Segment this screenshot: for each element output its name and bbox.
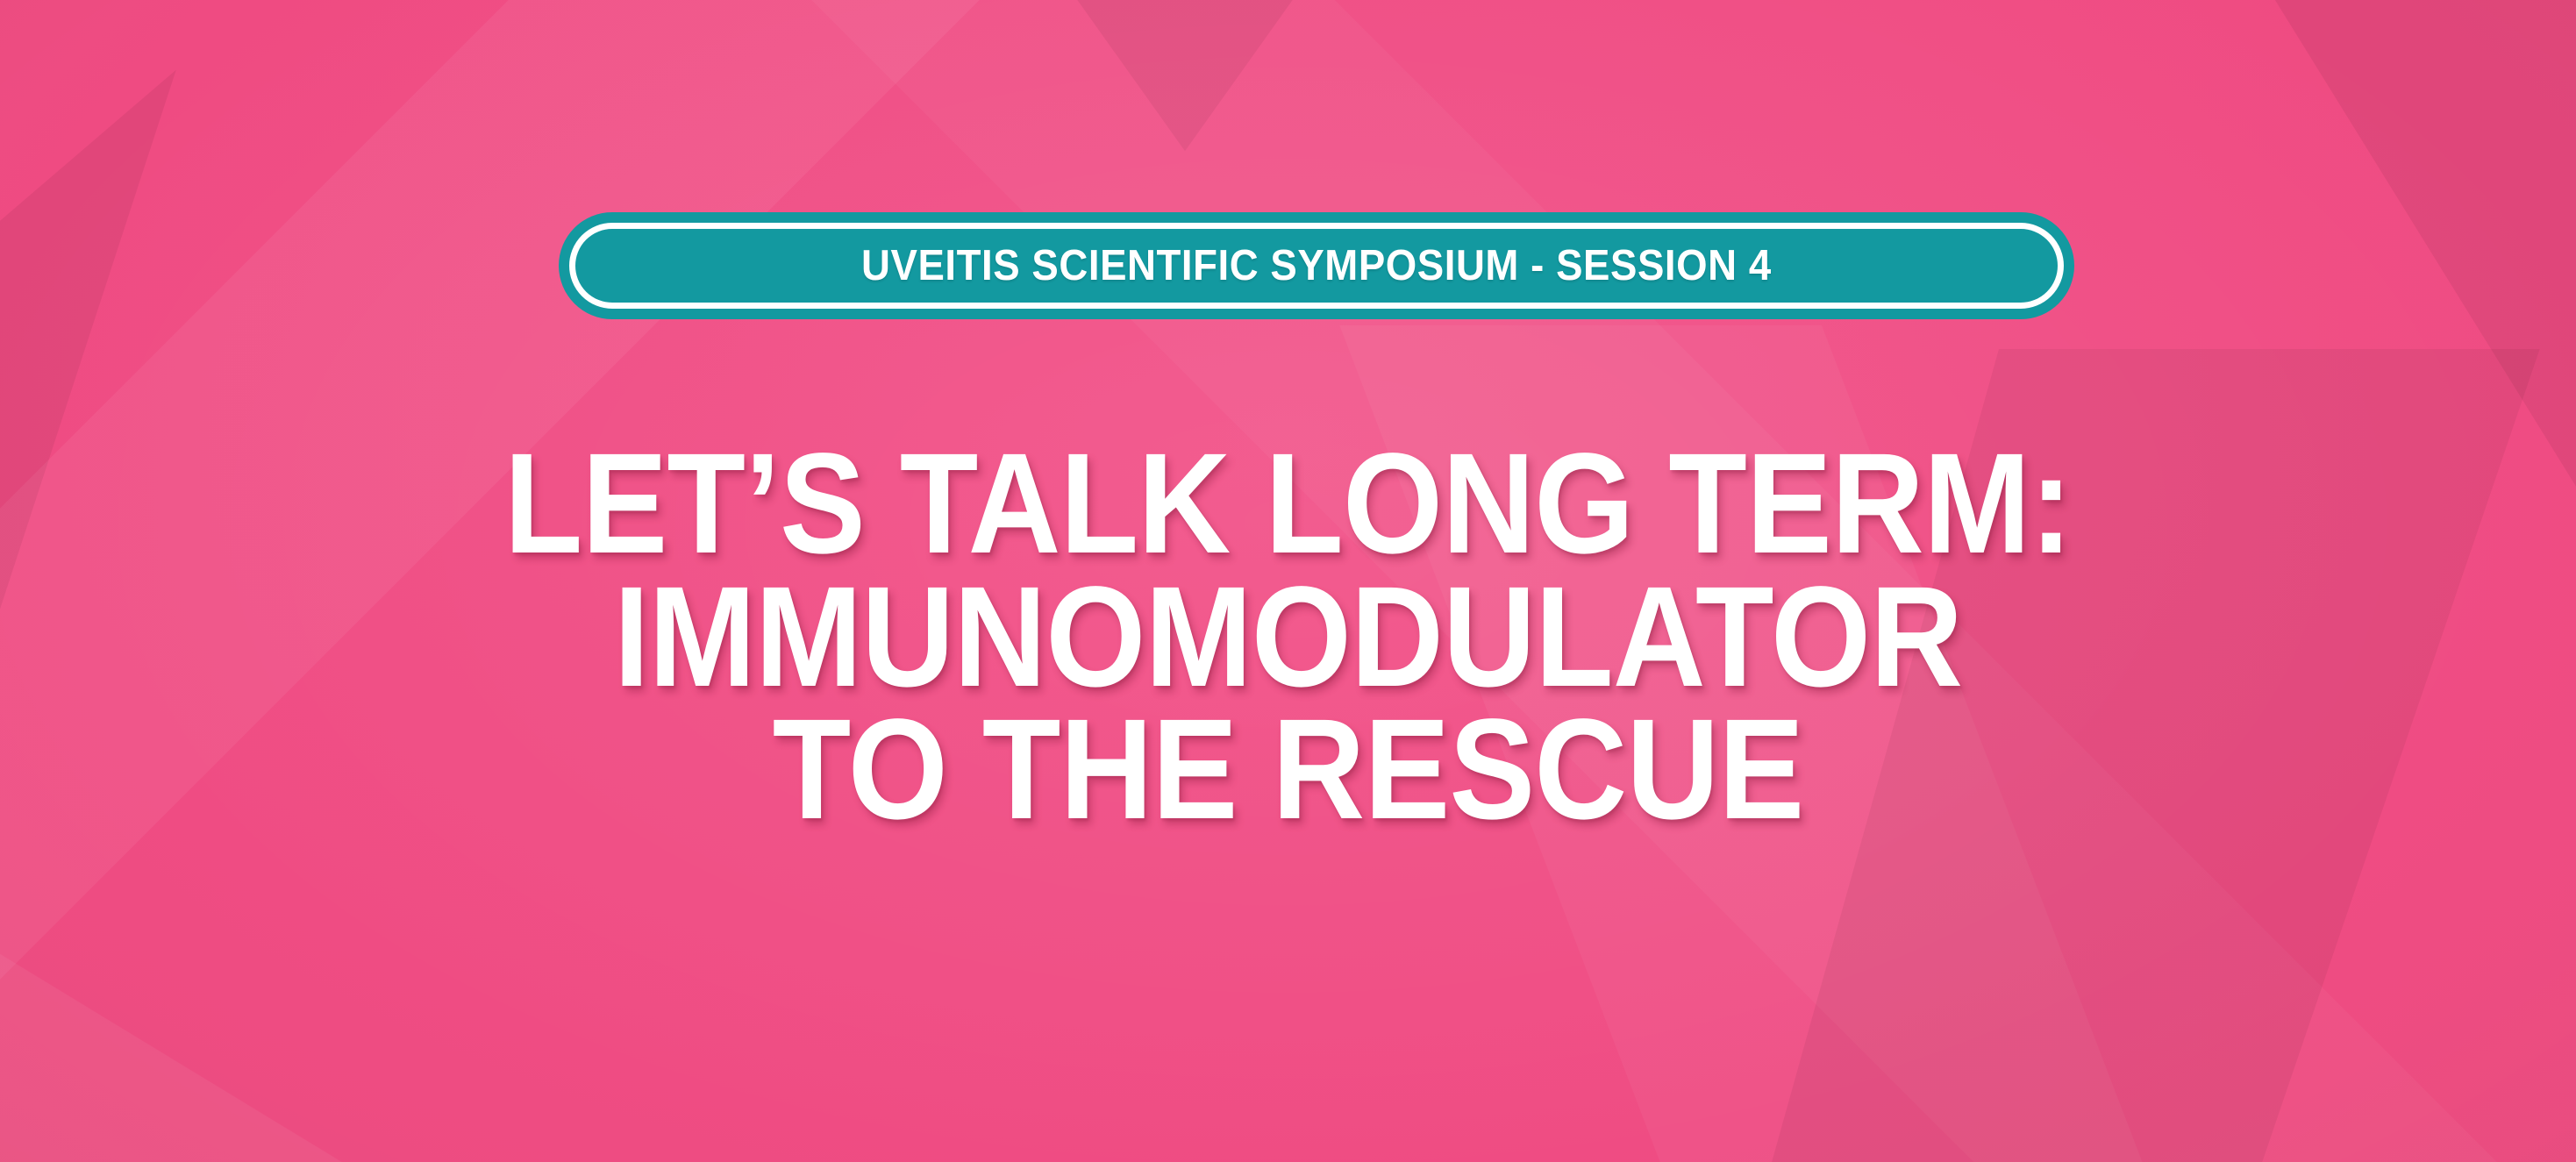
banner-content: UVEITIS SCIENTIFIC SYMPOSIUM - SESSION 4…	[0, 0, 2576, 1162]
page-title-line-2: IMMUNOMODULATOR	[129, 570, 2447, 703]
page-title: LET’S TALK LONG TERM: IMMUNOMODULATOR TO…	[0, 437, 2576, 836]
event-title-banner: UVEITIS SCIENTIFIC SYMPOSIUM - SESSION 4…	[0, 0, 2576, 1162]
page-title-line-3: TO THE RESCUE	[129, 702, 2447, 836]
session-badge: UVEITIS SCIENTIFIC SYMPOSIUM - SESSION 4	[559, 212, 2074, 319]
session-badge-label: UVEITIS SCIENTIFIC SYMPOSIUM - SESSION 4	[861, 245, 1772, 288]
page-title-line-1: LET’S TALK LONG TERM:	[129, 437, 2447, 570]
